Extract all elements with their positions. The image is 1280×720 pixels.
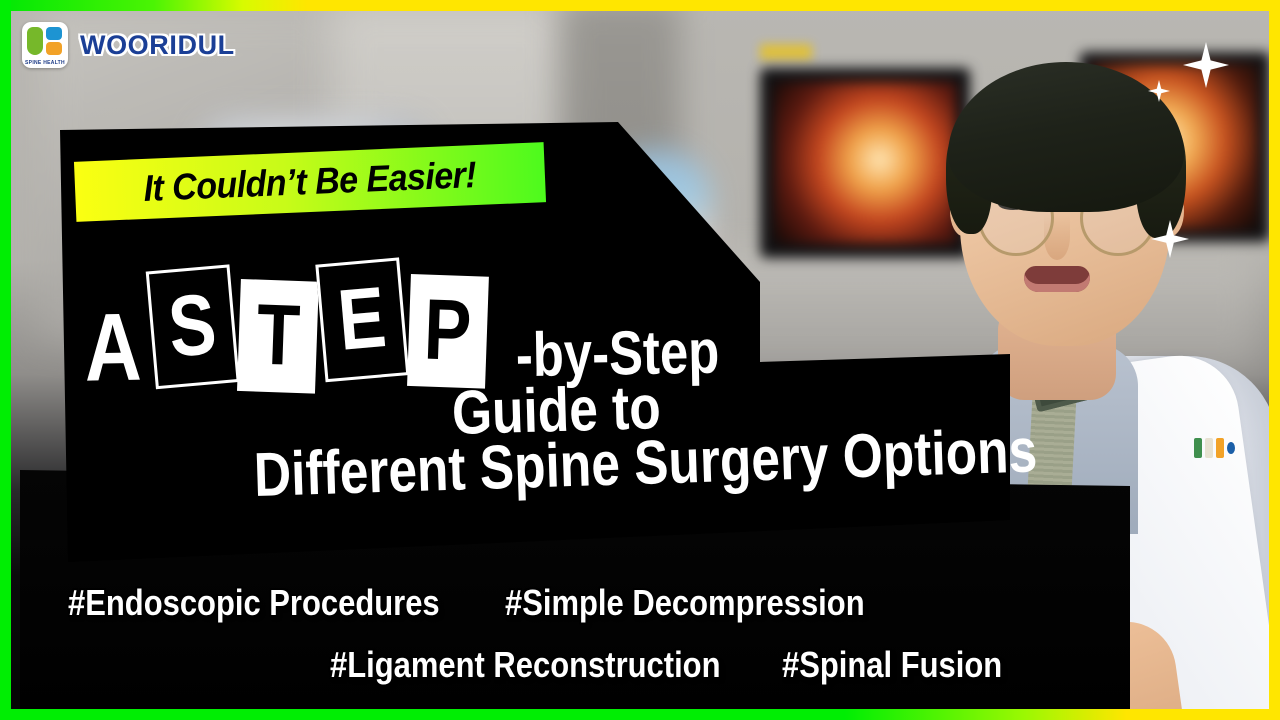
hashtag-spinal-fusion: #Spinal Fusion bbox=[782, 644, 1002, 686]
wooridul-logo-icon: SPINE HEALTH bbox=[22, 22, 68, 68]
frame-bottom bbox=[0, 709, 1280, 720]
logo-square-green bbox=[27, 27, 43, 55]
headline-ribbon-text: It Couldn’t Be Easier! bbox=[143, 154, 477, 210]
hashtag-ligament-reconstruction: #Ligament Reconstruction bbox=[330, 644, 720, 686]
step-tile-e: E bbox=[316, 257, 410, 382]
frame-left bbox=[0, 0, 11, 720]
step-tile-e-letter: E bbox=[336, 281, 389, 359]
thumbnail-canvas: Dr.Y.S.Choi It Couldn’t Be Easier! A S T… bbox=[0, 0, 1280, 720]
logo-tagline: SPINE HEALTH bbox=[22, 60, 68, 66]
frame-right bbox=[1269, 0, 1280, 720]
step-tile-t-letter: T bbox=[255, 299, 301, 374]
logo-square-blue bbox=[46, 27, 62, 40]
step-tile-s: S bbox=[146, 264, 240, 389]
step-tile-p: P bbox=[407, 274, 489, 389]
clinic-badge-icon bbox=[1194, 438, 1238, 462]
frame-top bbox=[0, 0, 1280, 11]
brand-logo[interactable]: SPINE HEALTH WOORIDUL bbox=[22, 22, 235, 68]
hair bbox=[948, 62, 1184, 212]
wall-label bbox=[760, 44, 812, 60]
title-letter-a: A bbox=[84, 304, 142, 391]
step-tile-s-letter: S bbox=[166, 288, 219, 366]
step-tile-p-letter: P bbox=[424, 294, 474, 370]
mouth bbox=[1024, 266, 1090, 292]
logo-square-orange bbox=[46, 42, 62, 55]
hashtag-simple-decompression: #Simple Decompression bbox=[505, 582, 865, 624]
brand-wordmark: WOORIDUL bbox=[80, 30, 235, 61]
step-tile-t: T bbox=[237, 279, 319, 394]
hashtag-endoscopic-procedures: #Endoscopic Procedures bbox=[68, 582, 440, 624]
